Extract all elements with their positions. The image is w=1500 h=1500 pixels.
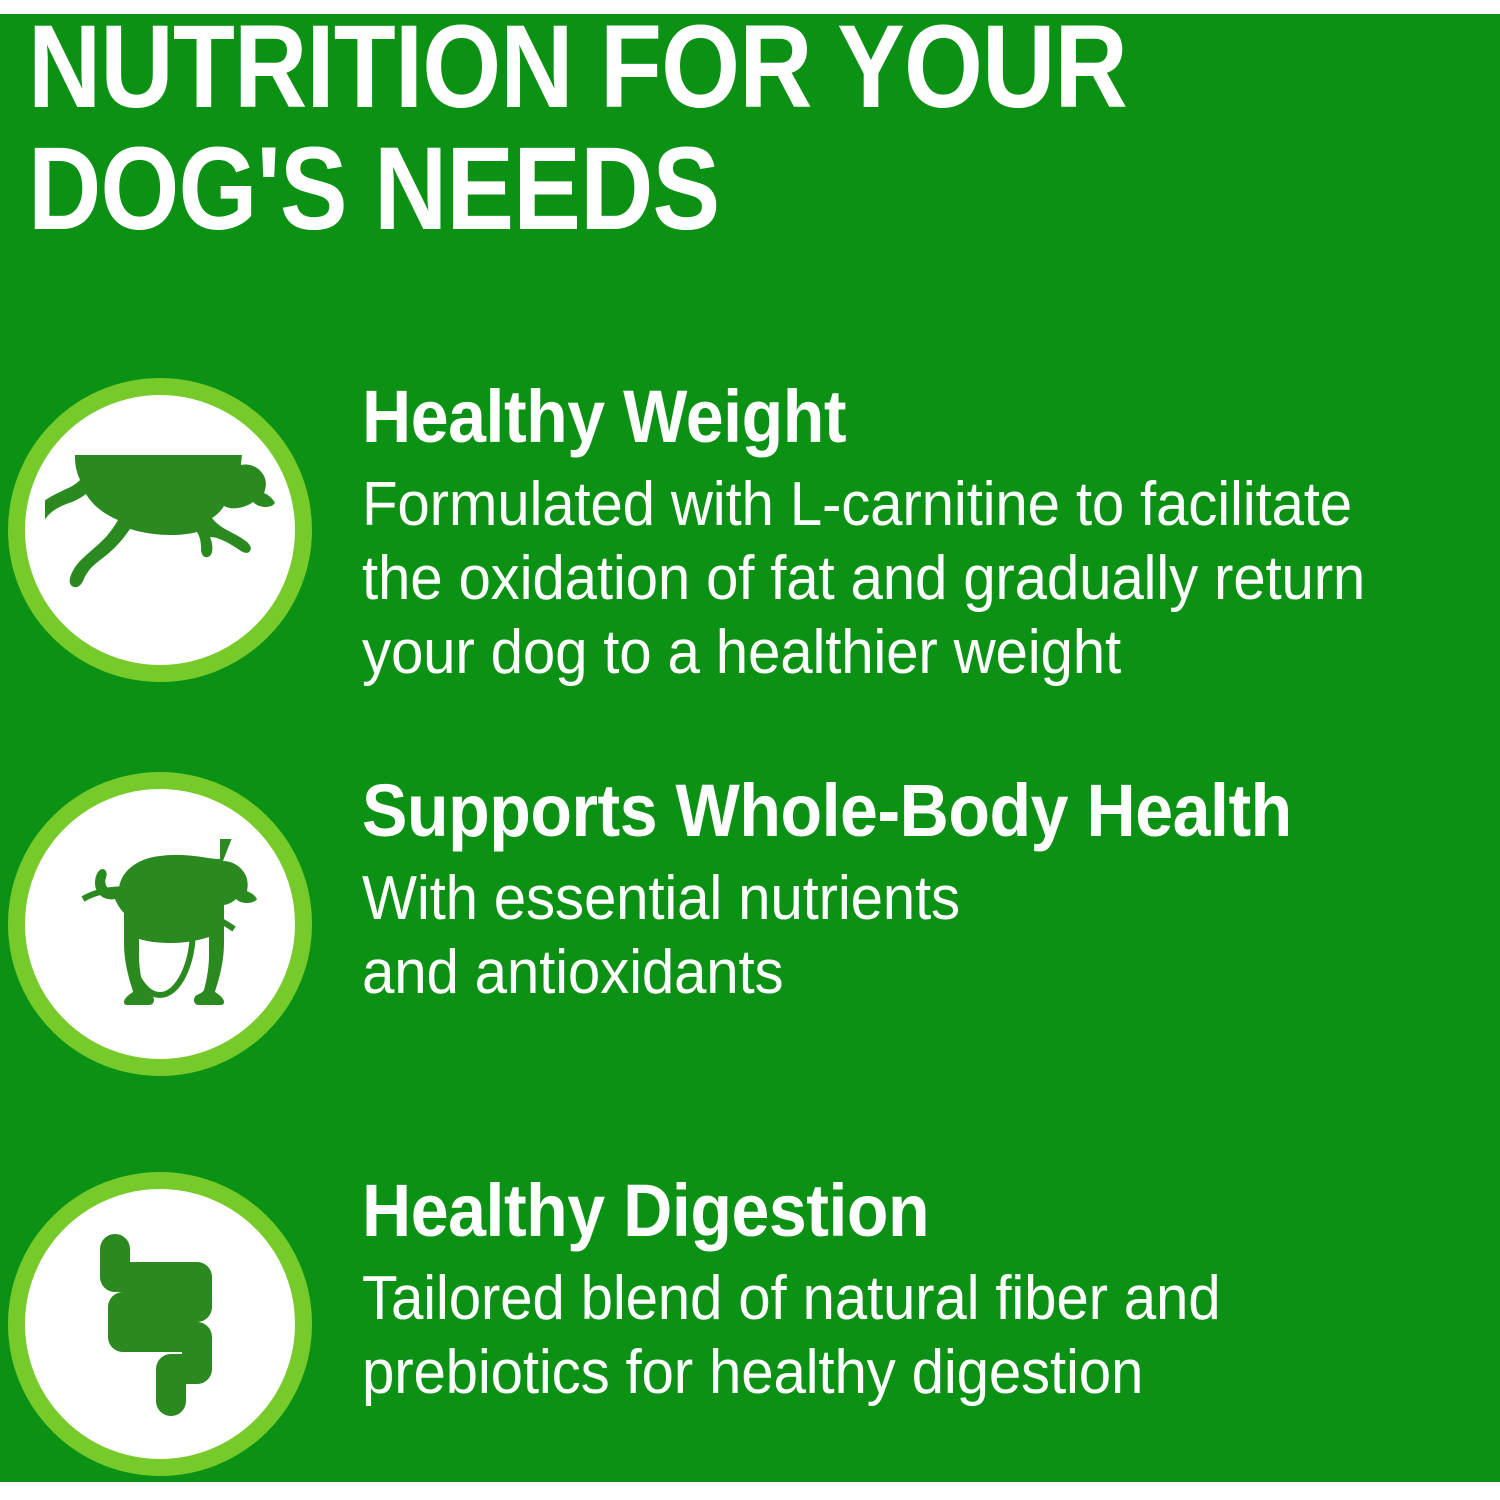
jumping-dog-icon xyxy=(45,455,275,605)
feature-body-whole-body-health: Supports Whole-Body Health With essentia… xyxy=(362,772,1492,1010)
feature-heading: Supports Whole-Body Health xyxy=(362,772,1402,850)
page-title: NUTRITION FOR YOUR DOG'S NEEDS xyxy=(28,6,1232,250)
feature-description: With essential nutrients and antioxidant… xyxy=(362,862,1424,1010)
feature-heading: Healthy Digestion xyxy=(362,1172,1402,1250)
feature-description: Tailored blend of natural fiber and preb… xyxy=(362,1262,1424,1410)
dog-with-orbit-ring-icon xyxy=(55,839,265,1009)
feature-description: Formulated with L-carnitine to facilitat… xyxy=(362,468,1424,690)
feature-body-healthy-weight: Healthy Weight Formulated with L-carniti… xyxy=(362,378,1492,690)
badge-whole-body-health xyxy=(8,772,312,1076)
feature-heading: Healthy Weight xyxy=(362,378,1402,456)
badge-healthy-digestion xyxy=(8,1172,312,1476)
feature-body-healthy-digestion: Healthy Digestion Tailored blend of natu… xyxy=(362,1172,1492,1410)
intestine-icon xyxy=(85,1229,235,1419)
badge-healthy-weight xyxy=(8,378,312,682)
nutrition-benefits-infographic: NUTRITION FOR YOUR DOG'S NEEDS Healthy W… xyxy=(0,0,1500,1500)
